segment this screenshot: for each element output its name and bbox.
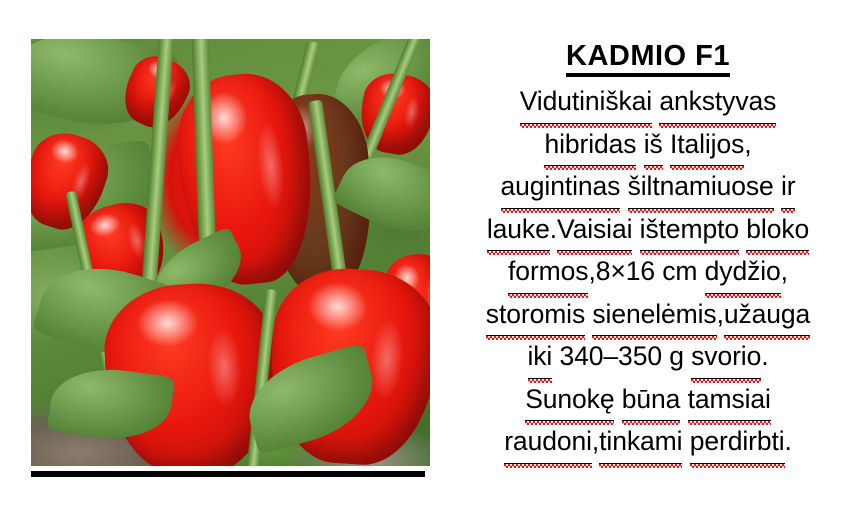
misspelled-word: ištempto: [640, 209, 739, 252]
horizontal-rule: [31, 471, 425, 477]
misspelled-word: užauga: [724, 294, 810, 337]
plain-text: .: [785, 421, 792, 463]
misspelled-word: lauke: [487, 209, 550, 252]
misspelled-word: formos: [508, 251, 588, 294]
description-line: lauke. Vaisiai ištempto bloko: [438, 209, 858, 252]
description-panel: KADMIO F1 Vidutiniškai ankstyvashibridas…: [438, 40, 858, 464]
misspelled-word: ankstyvas: [659, 81, 776, 124]
page-title: KADMIO F1: [566, 40, 730, 77]
misspelled-word: sienelėmis: [592, 294, 716, 337]
misspelled-word: Sunokę: [525, 379, 614, 422]
pepper-photo: [31, 39, 430, 466]
plain-text: .: [550, 209, 557, 251]
misspelled-word: būna: [622, 379, 681, 422]
misspelled-word: hibridas: [544, 124, 636, 167]
description-line: augintinas šiltnamiuose ir: [438, 166, 858, 209]
misspelled-word: Vidutiniškai: [520, 81, 652, 124]
title-row: KADMIO F1: [438, 40, 858, 77]
description-line: Sunokę būna tamsiai: [438, 379, 858, 422]
misspelled-word: tinkami: [599, 421, 682, 464]
misspelled-word: dydžio: [705, 251, 781, 294]
description-line: raudoni, tinkami perdirbti.: [438, 421, 858, 464]
misspelled-word: iš: [644, 124, 663, 167]
misspelled-word: svorio: [691, 336, 761, 379]
description-line: storomis sienelėmis, užauga: [438, 294, 858, 337]
misspelled-word: Italijos: [670, 124, 744, 167]
description-line: Vidutiniškai ankstyvas: [438, 81, 858, 124]
misspelled-word: iki: [528, 336, 553, 379]
description-line: hibridas iš Italijos,: [438, 124, 858, 167]
plain-text: 8×16 cm: [596, 251, 698, 293]
misspelled-word: augintinas: [501, 166, 621, 209]
misspelled-word: storomis: [486, 294, 585, 337]
misspelled-word: tamsiai: [688, 379, 771, 422]
plain-text: ,: [717, 294, 724, 336]
misspelled-word: perdirbti: [690, 421, 785, 464]
misspelled-word: raudoni: [504, 421, 592, 464]
misspelled-word: bloko: [746, 209, 809, 252]
misspelled-word: ir: [781, 166, 796, 209]
plain-text: 340–350 g: [560, 336, 684, 378]
misspelled-word: šiltnamiuose: [628, 166, 774, 209]
plain-text: .: [761, 336, 768, 378]
description-line: formos, 8×16 cm dydžio,: [438, 251, 858, 294]
plain-text: ,: [592, 421, 599, 463]
document-page: KADMIO F1 Vidutiniškai ankstyvashibridas…: [0, 0, 864, 527]
description-line: iki 340–350 g svorio.: [438, 336, 858, 379]
plain-text: ,: [781, 251, 788, 293]
plain-text: ,: [588, 251, 595, 293]
plain-text: ,: [744, 124, 751, 166]
description-body: Vidutiniškai ankstyvashibridas iš Italij…: [438, 81, 858, 464]
misspelled-word: Vaisiai: [557, 209, 632, 252]
